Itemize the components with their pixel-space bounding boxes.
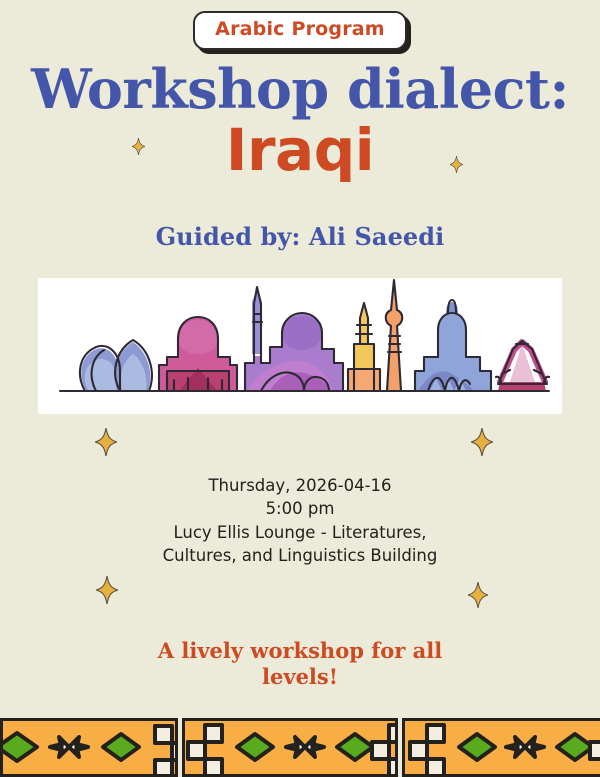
border-pattern-icon [185, 721, 395, 774]
event-time: 5:00 pm [0, 497, 600, 520]
iraqi-skyline-icon [38, 278, 562, 414]
program-badge-container: Arabic Program [0, 11, 600, 50]
sparkle-icon [468, 582, 488, 608]
poster-title-line1: Workshop dialect: [0, 62, 600, 117]
program-badge: Arabic Program [193, 11, 407, 50]
border-panel [402, 718, 600, 777]
border-panel [0, 718, 178, 777]
sparkle-icon [132, 138, 145, 155]
event-details: Thursday, 2026-04-16 5:00 pm Lucy Ellis … [0, 474, 600, 568]
decorative-border-strip [0, 718, 600, 777]
event-tagline: A lively workshop for all levels! [0, 638, 600, 689]
skyline-illustration-panel [38, 278, 562, 414]
poster-canvas: Arabic Program Workshop dialect: Iraqi G… [0, 0, 600, 777]
sparkle-icon [471, 428, 493, 456]
event-location-line1: Lucy Ellis Lounge - Literatures, [0, 521, 600, 544]
poster-title-line2: Iraqi [0, 120, 600, 181]
border-pattern-icon [405, 721, 600, 774]
event-location-line2: Cultures, and Linguistics Building [0, 544, 600, 567]
sparkle-icon [450, 156, 463, 173]
border-panel [182, 718, 398, 777]
sparkle-icon [96, 576, 118, 604]
event-date: Thursday, 2026-04-16 [0, 474, 600, 497]
border-pattern-icon [3, 721, 175, 774]
presenter-line: Guided by: Ali Saeedi [0, 222, 600, 251]
sparkle-icon [95, 428, 117, 456]
